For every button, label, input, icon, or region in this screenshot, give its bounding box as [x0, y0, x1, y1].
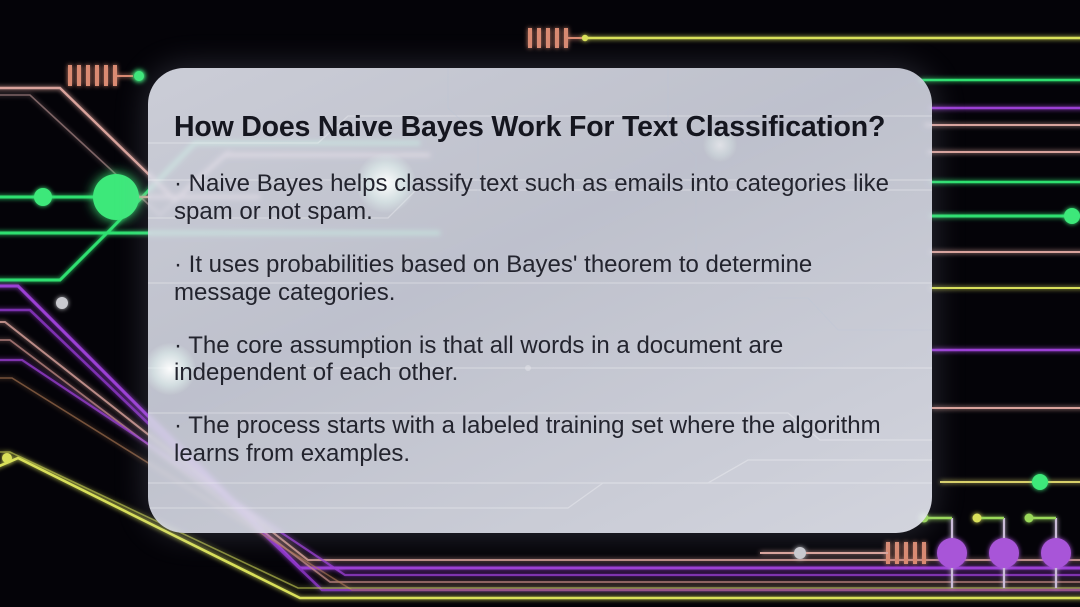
- node-green-large: [93, 174, 139, 220]
- bullet-text: The core assumption is that all words in…: [174, 332, 783, 387]
- bullet-text: The process starts with a labeled traini…: [174, 412, 881, 467]
- content-card: How Does Naive Bayes Work For Text Class…: [148, 68, 932, 533]
- list-item: · The core assumption is that all words …: [174, 332, 906, 388]
- node-yellow-left: [2, 453, 12, 463]
- bullet-marker: ·: [174, 412, 182, 439]
- node-green-small: [34, 188, 52, 206]
- list-item: · It uses probabilities based on Bayes' …: [174, 251, 906, 307]
- list-item: · Naive Bayes helps classify text such a…: [174, 170, 906, 226]
- page-title: How Does Naive Bayes Work For Text Class…: [174, 110, 906, 144]
- bullet-marker: ·: [174, 332, 182, 359]
- node-green-right: [1064, 208, 1080, 224]
- bullet-text: Naive Bayes helps classify text such as …: [174, 170, 889, 225]
- bullet-marker: ·: [174, 251, 182, 278]
- slide-canvas: How Does Naive Bayes Work For Text Class…: [0, 0, 1080, 607]
- bullet-text: It uses probabilities based on Bayes' th…: [174, 251, 812, 306]
- list-item: · The process starts with a labeled trai…: [174, 412, 906, 468]
- node-green-right-lower: [1032, 474, 1048, 490]
- bullet-marker: ·: [174, 170, 182, 197]
- card-content: How Does Naive Bayes Work For Text Class…: [148, 68, 932, 468]
